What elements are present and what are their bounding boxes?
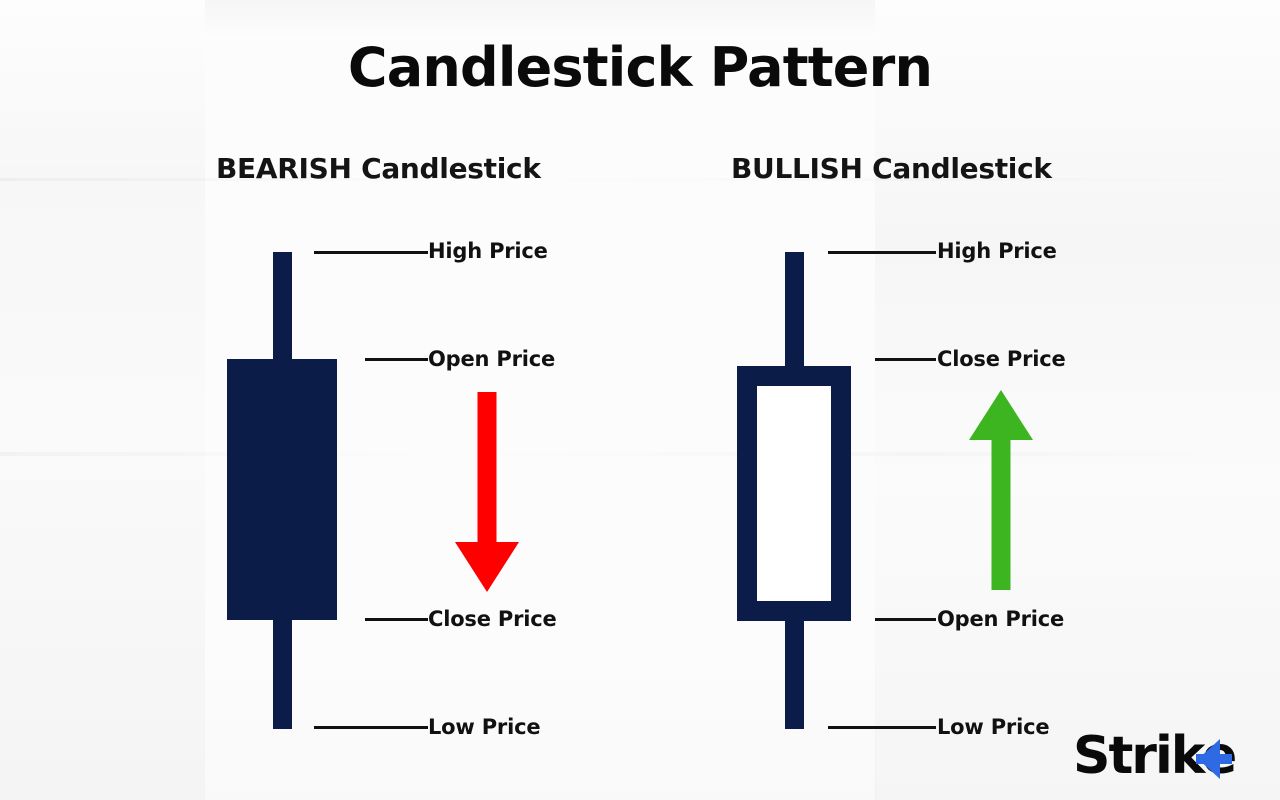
bullish-leader-line-open xyxy=(875,618,936,621)
bearish-label-low-price: Low Price xyxy=(428,715,540,739)
strike-logo: Strike xyxy=(1073,727,1235,785)
background-seam-middle xyxy=(0,452,1280,456)
bullish-leader-line-close xyxy=(875,358,936,361)
bearish-upper-wick xyxy=(273,252,292,360)
bearish-label-high-price: High Price xyxy=(428,239,548,263)
bullish-label-close-price: Close Price xyxy=(937,347,1066,371)
background-panel-bottom xyxy=(205,640,877,800)
strike-logo-text: Strike xyxy=(1073,727,1235,785)
background-panel-right xyxy=(875,0,1280,800)
background-panel-top xyxy=(205,0,875,40)
bullish-leader-line-low xyxy=(828,726,936,729)
page-title: Candlestick Pattern xyxy=(0,41,1280,95)
bearish-lower-wick xyxy=(273,619,292,729)
bullish-label-open-price: Open Price xyxy=(937,607,1064,631)
arrow-down-icon xyxy=(452,392,522,592)
bullish-section-heading: BULLISH Candlestick xyxy=(731,152,1052,185)
bullish-lower-wick xyxy=(785,619,804,729)
arrow-up-icon xyxy=(966,390,1036,590)
bullish-upper-wick xyxy=(785,252,804,368)
bullish-candle-body xyxy=(737,366,851,621)
bearish-leader-line-low xyxy=(314,726,428,729)
bearish-section-heading: BEARISH Candlestick xyxy=(216,152,541,185)
infographic-canvas: Candlestick Pattern BEARISH Candlestick … xyxy=(0,0,1280,800)
background-panel-left xyxy=(0,0,205,800)
bearish-label-open-price: Open Price xyxy=(428,347,555,371)
background-seam-upper xyxy=(0,178,1280,181)
bullish-label-low-price: Low Price xyxy=(937,715,1049,739)
bearish-leader-line-high xyxy=(314,251,428,254)
bearish-candle-body xyxy=(227,359,337,620)
bearish-leader-line-close xyxy=(365,618,428,621)
bearish-leader-line-open xyxy=(365,358,428,361)
bullish-leader-line-high xyxy=(828,251,936,254)
bearish-label-close-price: Close Price xyxy=(428,607,557,631)
bullish-label-high-price: High Price xyxy=(937,239,1057,263)
